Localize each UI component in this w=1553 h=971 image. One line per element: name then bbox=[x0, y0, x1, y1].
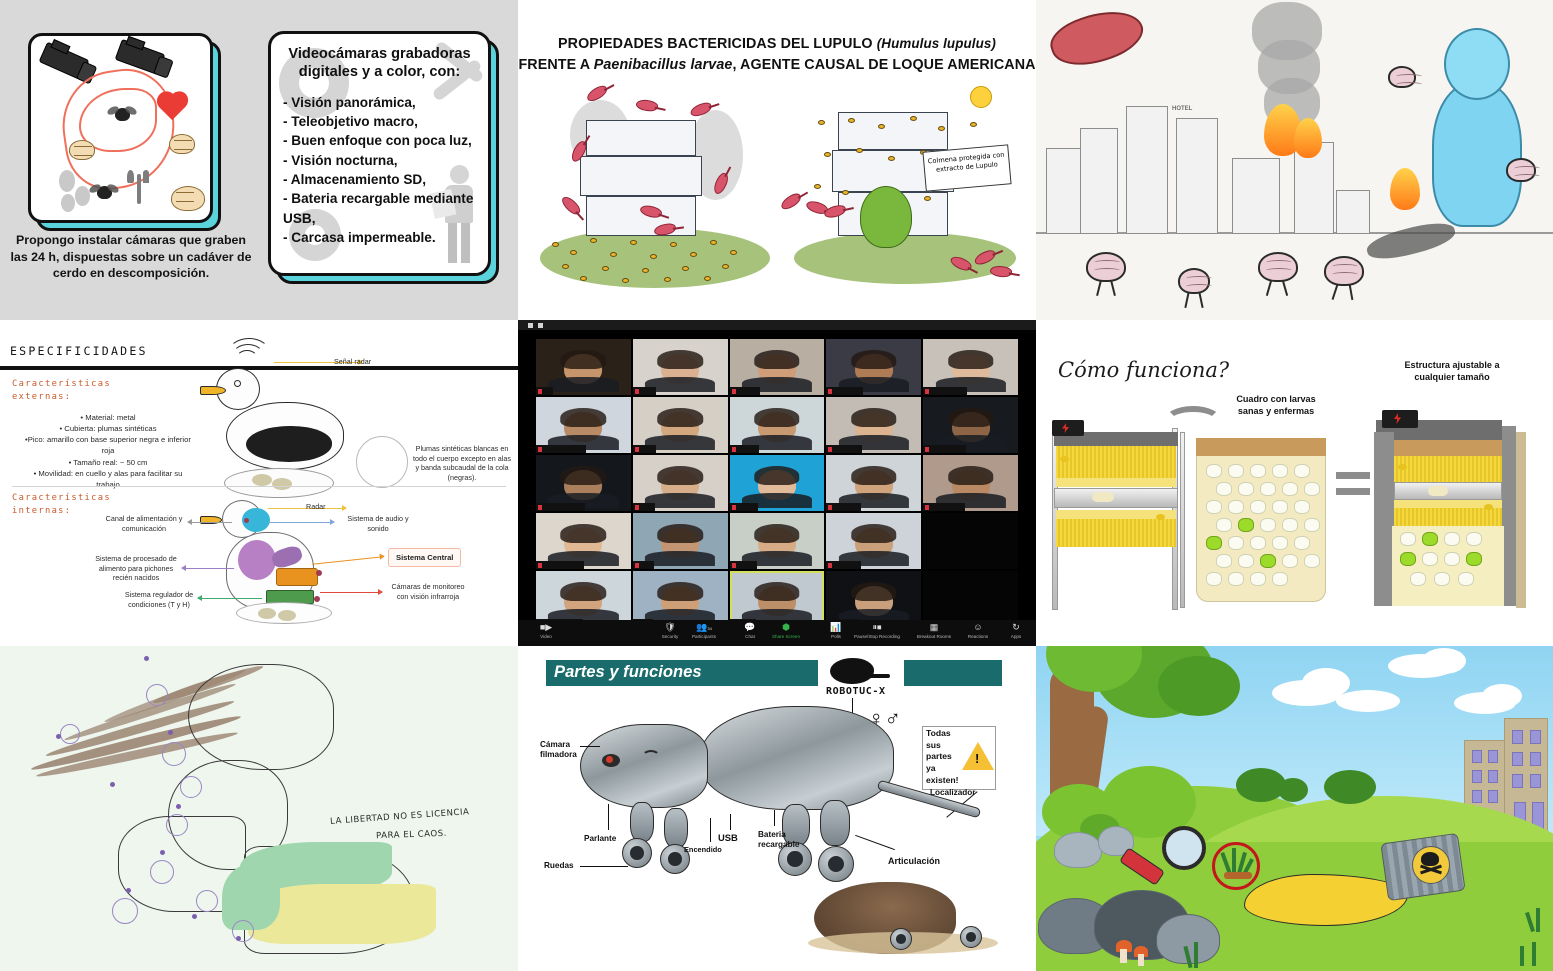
participant-nameplate bbox=[633, 503, 655, 511]
panel-pollution-scene bbox=[1036, 646, 1553, 971]
mic-muted-icon bbox=[828, 563, 832, 568]
mic-muted-icon bbox=[635, 563, 639, 568]
stone-shape bbox=[61, 194, 75, 212]
cloud bbox=[1422, 648, 1466, 674]
panel-libertad-drawing: LA LIBERTAD NO ES LICENCIA PARA EL CAOS. bbox=[0, 646, 518, 971]
panel-como-funciona: Cómo funciona? bbox=[1036, 320, 1553, 646]
zoom-participant-tile[interactable] bbox=[826, 339, 921, 395]
equals-icon bbox=[1336, 472, 1370, 479]
camera-leader bbox=[580, 746, 600, 747]
feature-item: - Visión panorámica, bbox=[283, 93, 488, 112]
zoom-participant-tile[interactable] bbox=[923, 571, 1018, 627]
zoom-participant-tile[interactable] bbox=[730, 455, 825, 511]
title-species-2: Paenibacillus larvae bbox=[594, 57, 733, 73]
panel-zoom-meeting: ■▶ Video 🛡 Security 👥34 Participants 💬 C… bbox=[518, 320, 1036, 646]
robotuc-logo: ROBOTUC-X bbox=[826, 686, 886, 697]
maggot-icon bbox=[69, 140, 95, 160]
feed-arrow bbox=[188, 522, 232, 523]
mic-muted-icon bbox=[732, 505, 736, 510]
hive-sign: Colmena protegida con extracto de Lupulo bbox=[922, 144, 1011, 191]
zoom-participant-tile[interactable] bbox=[826, 455, 921, 511]
zoom-btn-label: Pause/Stop Recording bbox=[854, 634, 900, 639]
zoom-participant-tile[interactable] bbox=[730, 397, 825, 453]
central-arrow bbox=[312, 556, 384, 565]
participant-hair bbox=[754, 582, 800, 601]
grass-blade bbox=[1532, 942, 1536, 966]
participant-shoulders bbox=[645, 493, 715, 508]
mic-muted-icon bbox=[538, 447, 542, 452]
zoom-participant-tile[interactable] bbox=[536, 513, 631, 569]
participant-nameplate bbox=[633, 387, 657, 395]
participant-hair bbox=[948, 350, 994, 369]
zoom-participant-tile[interactable] bbox=[826, 397, 921, 453]
panel-camera-proposal: Propongo instalar cámaras que graben las… bbox=[0, 0, 518, 320]
zoom-btn-share-screen[interactable]: ⬢ Share Screen bbox=[760, 622, 812, 639]
building bbox=[1176, 118, 1218, 234]
hop-mascot-icon bbox=[860, 186, 912, 248]
participant-hair bbox=[657, 408, 703, 427]
battery-label: Bateria recargable bbox=[758, 830, 806, 849]
mic-muted-icon bbox=[828, 505, 832, 510]
pig-illustration-card bbox=[28, 33, 213, 223]
mic-muted-icon bbox=[635, 505, 639, 510]
apps-icon: ↻ bbox=[990, 622, 1036, 633]
participant-hair bbox=[561, 408, 607, 427]
participant-count: 34 bbox=[707, 626, 711, 631]
skull-head bbox=[1421, 852, 1439, 866]
title-part-2: , AGENTE CAUSAL DE LOQUE AMERICANA bbox=[732, 57, 1035, 73]
zoom-video-grid bbox=[536, 339, 1018, 627]
spec-card-title: Videocámaras grabadoras digitales y a co… bbox=[271, 34, 488, 82]
video-icon: ■▶ bbox=[520, 622, 572, 633]
magnifier-lens-icon bbox=[1162, 826, 1206, 870]
radar-label-internal: Radar bbox=[306, 502, 326, 512]
participant-hair bbox=[948, 408, 994, 427]
cutlery-icon bbox=[137, 174, 141, 204]
cloud bbox=[1336, 690, 1400, 712]
participant-hair bbox=[657, 466, 703, 485]
brain-held-character bbox=[1506, 158, 1536, 182]
participant-hair bbox=[851, 408, 897, 427]
regulator-arrow bbox=[198, 598, 262, 599]
food-processing-label: Sistema de procesado de alimento para pi… bbox=[92, 554, 180, 583]
participant-nameplate bbox=[923, 387, 967, 395]
rodent-wheel bbox=[960, 926, 982, 948]
spec-feature-list: - Visión panorámica, - Teleobjetivo macr… bbox=[271, 93, 488, 247]
participant-nameplate bbox=[536, 561, 584, 569]
mic-muted-icon bbox=[732, 389, 736, 394]
participant-hair bbox=[657, 524, 703, 543]
zoom-toolbar: ■▶ Video 🛡 Security 👥34 Participants 💬 C… bbox=[518, 620, 1036, 646]
zoom-participant-tile[interactable] bbox=[826, 571, 921, 627]
panel-brains-drawing: HOTEL bbox=[1036, 0, 1553, 320]
zoom-btn-record[interactable]: ⏸⏹ Pause/Stop Recording bbox=[840, 622, 914, 639]
pig-illustration bbox=[31, 36, 210, 220]
mic-muted-icon bbox=[538, 389, 542, 394]
rodent-wheel bbox=[890, 928, 912, 950]
green-sash-small bbox=[222, 864, 280, 930]
usb-label: USB bbox=[718, 832, 738, 843]
grass-blade bbox=[1520, 946, 1524, 966]
building bbox=[1336, 190, 1370, 234]
camera-icon-left bbox=[39, 42, 90, 81]
processing-organ bbox=[238, 540, 276, 580]
mic-muted-icon bbox=[635, 447, 639, 452]
power-label: Encendido bbox=[684, 846, 722, 855]
participant-nameplate bbox=[730, 445, 759, 453]
feature-item: - Teleobjetivo macro, bbox=[283, 112, 488, 131]
structure-label: Estructura ajustable a cualquier tamaño bbox=[1394, 360, 1510, 384]
robot-head bbox=[580, 724, 708, 808]
battery-leader bbox=[774, 810, 775, 826]
building bbox=[1080, 128, 1118, 234]
participant-shoulders bbox=[548, 377, 618, 392]
robot-wheel bbox=[818, 846, 854, 882]
rodent-logo-icon bbox=[830, 658, 874, 684]
participant-hair bbox=[754, 466, 800, 485]
zoom-btn-label: Chat bbox=[745, 634, 755, 639]
wheels-leader bbox=[580, 866, 628, 867]
lupulo-title: PROPIEDADES BACTERICIDAS DEL LUPULO (Hum… bbox=[518, 34, 1036, 75]
participant-nameplate bbox=[730, 387, 760, 395]
participant-hair bbox=[754, 524, 800, 543]
participant-nameplate bbox=[826, 387, 863, 395]
window-maximize-icon[interactable] bbox=[538, 323, 543, 328]
participant-hair bbox=[561, 582, 607, 601]
quote-line-1: LA LIBERTAD NO ES LICENCIA bbox=[330, 807, 470, 827]
participant-hair bbox=[561, 524, 607, 543]
feature-item: - Almacenamiento SD, bbox=[283, 170, 488, 189]
participant-nameplate bbox=[826, 445, 862, 453]
participant-hair bbox=[851, 350, 897, 369]
feature-item: - Bateria recargable mediante USB, bbox=[283, 189, 488, 228]
audio-label: Sistema de audio y sonido bbox=[338, 514, 418, 533]
participant-hair bbox=[754, 350, 800, 369]
panel-grid: Propongo instalar cámaras que graben las… bbox=[0, 0, 1553, 971]
flame-icon bbox=[1294, 118, 1322, 158]
participant-hair bbox=[657, 582, 703, 601]
zoom-btn-apps[interactable]: ↻ Apps bbox=[990, 622, 1036, 639]
speaker-leader bbox=[608, 804, 609, 830]
participant-nameplate bbox=[536, 445, 586, 453]
mushroom-stem bbox=[1120, 949, 1127, 963]
mic-muted-icon bbox=[538, 505, 542, 510]
share-screen-icon: ⬢ bbox=[760, 622, 812, 633]
window-minimize-icon[interactable] bbox=[528, 323, 533, 328]
mushroom-stem bbox=[1138, 954, 1144, 966]
building bbox=[1126, 106, 1168, 234]
mic-muted-icon bbox=[925, 389, 929, 394]
food-arrow bbox=[182, 568, 234, 569]
participant-hair bbox=[851, 582, 897, 601]
zoom-participant-tile[interactable] bbox=[923, 397, 1018, 453]
participant-nameplate bbox=[633, 445, 656, 453]
camera-spec-card: Videocámaras grabadoras digitales y a co… bbox=[268, 31, 491, 276]
mic-muted-icon bbox=[635, 389, 639, 394]
participant-nameplate bbox=[536, 387, 553, 395]
sun-icon bbox=[970, 86, 992, 108]
equals-icon bbox=[1336, 488, 1370, 495]
zoom-participant-tile[interactable] bbox=[730, 339, 825, 395]
zoom-participant-tile[interactable] bbox=[536, 397, 631, 453]
external-item: •Pico: amarillo con base superior negra … bbox=[24, 434, 192, 456]
zoom-btn-label: Apps bbox=[1011, 634, 1021, 639]
cloud bbox=[1482, 684, 1522, 708]
people-icon: 👥34 bbox=[678, 622, 730, 633]
zoom-participant-tile[interactable] bbox=[633, 397, 728, 453]
brain-held-character bbox=[1388, 66, 1416, 88]
participant-nameplate bbox=[826, 561, 860, 569]
mic-muted-icon bbox=[732, 563, 736, 568]
title-part: FRENTE A bbox=[518, 57, 593, 73]
title-species: (Humulus lupulus) bbox=[877, 36, 996, 51]
feature-item: - Visión nocturna, bbox=[283, 151, 488, 170]
zoom-participant-tile[interactable] bbox=[923, 513, 1018, 569]
warning-line: existen! bbox=[926, 775, 972, 787]
highlight-circle bbox=[1212, 842, 1260, 890]
quote-line-2: PARA EL CAOS. bbox=[376, 829, 447, 841]
joint-label: Articulación bbox=[888, 856, 940, 867]
blue-hero-head bbox=[1444, 28, 1510, 100]
flying-meat-character bbox=[1045, 1, 1149, 76]
tree-foliage bbox=[1158, 656, 1240, 716]
zoom-btn-label: Share Screen bbox=[772, 634, 800, 639]
joint-leader bbox=[855, 835, 895, 850]
brain-character bbox=[1086, 252, 1126, 282]
zoom-participant-tile[interactable] bbox=[633, 513, 728, 569]
participant-nameplate bbox=[730, 561, 757, 569]
building bbox=[1232, 158, 1280, 234]
external-item: • Cubierta: plumas sintéticas bbox=[24, 423, 192, 434]
participant-nameplate bbox=[633, 561, 654, 569]
participant-nameplate bbox=[923, 445, 966, 453]
process-arrow bbox=[1164, 406, 1222, 436]
participant-hair bbox=[561, 466, 607, 485]
feature-item: - Buen enfoque con poca luz, bbox=[283, 131, 488, 150]
regulator-label: Sistema regulador de condiciones (T y H) bbox=[118, 590, 200, 609]
building bbox=[1046, 148, 1082, 234]
external-items: • Material: metal • Cubierta: plumas sin… bbox=[24, 412, 192, 490]
zoom-participant-tile[interactable] bbox=[536, 339, 631, 395]
mic-muted-icon bbox=[538, 563, 542, 568]
robot-wheel bbox=[622, 838, 652, 868]
participant-shoulders bbox=[645, 435, 715, 450]
robot-title: Partes y funciones bbox=[554, 662, 702, 682]
zoom-btn-label: Reactions bbox=[968, 634, 988, 639]
rock bbox=[1054, 832, 1102, 868]
brain-character bbox=[1178, 268, 1210, 294]
zoom-participant-tile[interactable] bbox=[826, 513, 921, 569]
beak-icon bbox=[200, 386, 226, 395]
wheels-label: Ruedas bbox=[544, 861, 574, 871]
fly-icon bbox=[115, 108, 130, 121]
participant-shoulders bbox=[645, 551, 715, 566]
flame-icon bbox=[1390, 168, 1420, 210]
zoom-participant-tile[interactable] bbox=[633, 339, 728, 395]
zoom-participant-tile[interactable] bbox=[730, 513, 825, 569]
fly-icon bbox=[97, 186, 112, 199]
panel-lupulo-poster: PROPIEDADES BACTERICIDAS DEL LUPULO (Hum… bbox=[518, 0, 1036, 320]
zoom-btn-label: Security bbox=[662, 634, 679, 639]
radar-signal-label: Señal radar bbox=[334, 357, 371, 367]
zoom-participant-tile[interactable] bbox=[923, 339, 1018, 395]
hotel-sign: HOTEL bbox=[1172, 106, 1192, 112]
participant-hair bbox=[851, 466, 897, 485]
grass-blade bbox=[1194, 942, 1198, 968]
stone-shape bbox=[75, 186, 90, 206]
external-heading: Características externas: bbox=[12, 378, 122, 404]
robot-body bbox=[700, 706, 894, 810]
soil-patch bbox=[1224, 872, 1252, 879]
bush bbox=[1324, 770, 1376, 804]
warning-line: Todas bbox=[926, 728, 972, 740]
zoom-btn-label: Video bbox=[540, 634, 552, 639]
mic-muted-icon bbox=[925, 505, 929, 510]
mic-muted-icon bbox=[732, 447, 736, 452]
participant-nameplate bbox=[730, 503, 758, 511]
zoom-participant-tile[interactable] bbox=[536, 455, 631, 511]
zoom-btn-label: Participants bbox=[692, 634, 716, 639]
figure-head bbox=[188, 664, 334, 770]
stone-shape bbox=[59, 170, 75, 192]
cameras-label: Cámaras de monitoreo con visión infrarro… bbox=[388, 582, 468, 601]
battery-box bbox=[1382, 410, 1418, 428]
brain-character bbox=[1324, 256, 1364, 286]
speaker-label: Parlante bbox=[584, 834, 616, 844]
feed-channel-label: Canal de alimentación y comunicación bbox=[102, 514, 186, 533]
feature-item: - Carcasa impermeable. bbox=[283, 228, 488, 247]
power-leader bbox=[710, 818, 711, 842]
zoom-btn-label: Breakout Rooms bbox=[917, 634, 951, 639]
brain-character bbox=[1258, 252, 1298, 282]
robot-eye-red bbox=[606, 756, 613, 763]
zoom-participant-tile[interactable] bbox=[633, 455, 728, 511]
zoom-participant-tile[interactable] bbox=[633, 571, 728, 627]
camera-label: Cámara filmadora bbox=[540, 740, 590, 759]
zoom-btn-participants[interactable]: 👥34 Participants bbox=[678, 622, 730, 639]
pig-caption: Propongo instalar cámaras que graben las… bbox=[6, 232, 256, 282]
maggot-icon bbox=[171, 186, 205, 211]
mic-muted-icon bbox=[828, 389, 832, 394]
camera-arrow bbox=[320, 592, 382, 593]
zoom-participant-tile[interactable] bbox=[730, 571, 825, 627]
participant-hair bbox=[851, 524, 897, 543]
external-item: • Material: metal bbox=[24, 412, 192, 423]
warning-icon bbox=[962, 742, 994, 770]
central-system-organ bbox=[276, 568, 318, 586]
feather-zoom-circle bbox=[356, 436, 408, 488]
usb-leader bbox=[730, 814, 731, 830]
title-banner-right bbox=[904, 660, 1002, 686]
frame-label: Cuadro con larvas sanas y enfermas bbox=[1224, 394, 1328, 418]
blue-hero-character bbox=[1432, 82, 1522, 227]
participant-hair bbox=[754, 408, 800, 427]
participant-hair bbox=[948, 466, 994, 485]
zoom-participant-tile[interactable] bbox=[536, 571, 631, 627]
zoom-window-titlebar bbox=[518, 320, 1036, 330]
grass-blade bbox=[1232, 848, 1236, 874]
como-funciona-title: Cómo funciona? bbox=[1058, 358, 1229, 382]
mic-muted-icon bbox=[925, 447, 929, 452]
mic-muted-icon bbox=[828, 447, 832, 452]
zoom-btn-video[interactable]: ■▶ Video bbox=[520, 622, 572, 639]
panel-especificidades: ESPECIFICIDADES Características externas… bbox=[0, 320, 518, 646]
feather-note: Plumas sintéticas blancas en todo el cue… bbox=[412, 444, 512, 483]
rodent-tail-icon bbox=[864, 674, 890, 678]
audio-arrow bbox=[268, 522, 334, 523]
central-system-box: Sistema Central bbox=[388, 548, 461, 567]
maggot-icon bbox=[169, 134, 195, 154]
record-icon: ⏸⏹ bbox=[840, 622, 914, 633]
bush bbox=[1278, 778, 1308, 802]
external-item: • Tamaño real: ~ 50 cm bbox=[24, 457, 192, 468]
grass-blade bbox=[1536, 908, 1540, 932]
panel-robotuc: Partes y funciones ROBOTUC-X ♀♂ Todas su… bbox=[518, 646, 1036, 971]
title-part: PROPIEDADES BACTERICIDAS DEL LUPULO bbox=[558, 36, 877, 52]
participant-nameplate bbox=[923, 503, 965, 511]
zoom-participant-tile[interactable] bbox=[923, 455, 1018, 511]
participant-hair bbox=[657, 350, 703, 369]
participant-nameplate bbox=[826, 503, 861, 511]
spec-header-title: ESPECIFICIDADES bbox=[10, 344, 148, 358]
participant-nameplate bbox=[536, 503, 585, 511]
participant-hair bbox=[561, 350, 607, 369]
